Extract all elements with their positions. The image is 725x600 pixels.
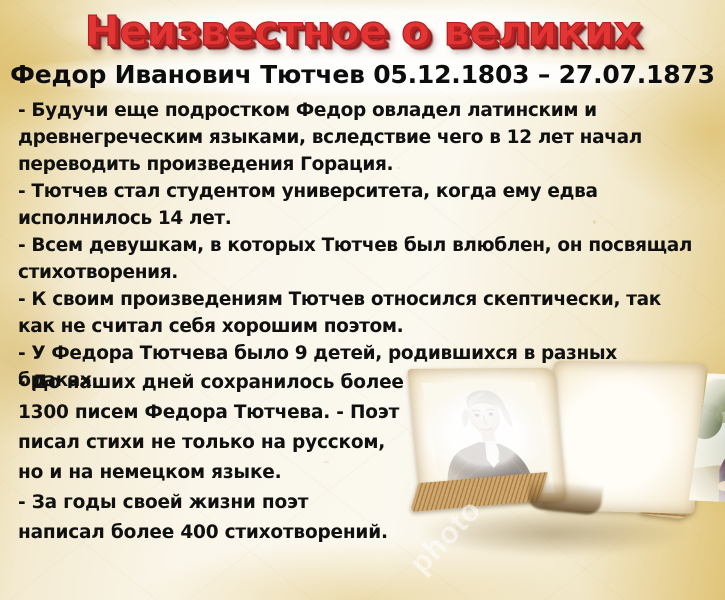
title-band: Неизвестное о великих xyxy=(0,0,725,60)
fact-item: - К своим произведениям Тютчев относился… xyxy=(18,286,708,340)
subtitle-band: Федор Иванович Тютчев 05.12.1803 – 27.07… xyxy=(0,57,725,93)
portrait-tyutchev-older xyxy=(689,373,725,506)
fact-item: - До наших дней сохранилось более 1300 п… xyxy=(18,368,426,488)
facts-list-upper: - Будучи еще подростком Федор овладел ла… xyxy=(18,97,708,394)
poster-subtitle: Федор Иванович Тютчев 05.12.1803 – 27.07… xyxy=(0,59,725,90)
poster-canvas: Неизвестное о великих Федор Иванович Тют… xyxy=(0,0,725,600)
open-book-illustration xyxy=(408,360,708,565)
book-drop-shadow xyxy=(422,510,687,556)
fact-item: - Будучи еще подростком Федор овладел ла… xyxy=(18,97,708,178)
fact-item: - Тютчев стал студентом университета, ко… xyxy=(18,178,708,232)
facts-list-lower: - До наших дней сохранилось более 1300 п… xyxy=(18,368,426,548)
fact-item: - Всем девушкам, в которых Тютчев был вл… xyxy=(18,232,708,286)
page-title: Неизвестное о великих xyxy=(0,8,725,54)
fact-item: - За годы своей жизни поэт написал более… xyxy=(18,488,426,548)
